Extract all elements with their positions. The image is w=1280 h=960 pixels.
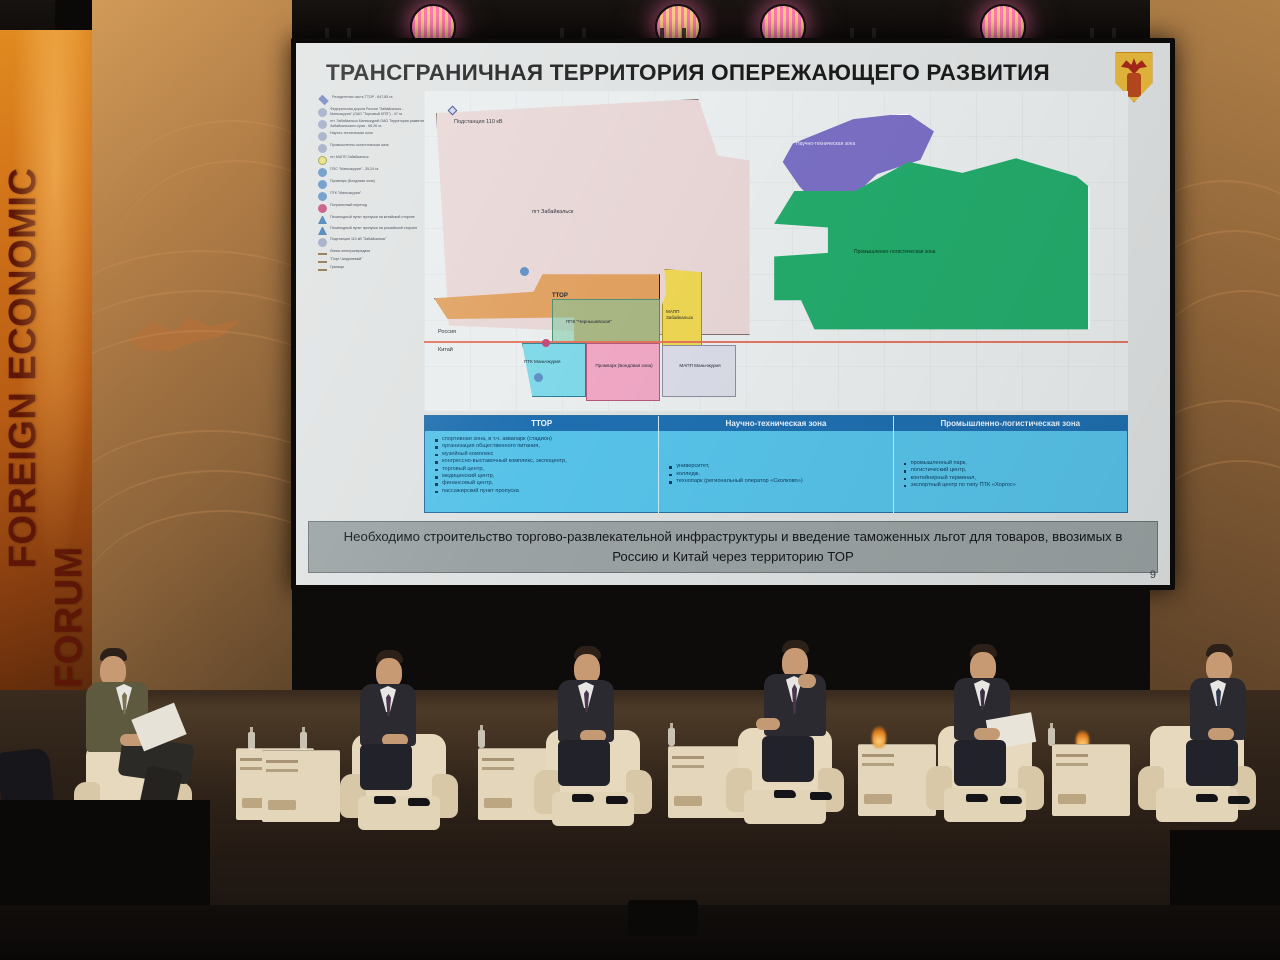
name-placard xyxy=(858,744,936,816)
hand-raised xyxy=(798,674,816,688)
legend-dot-icon xyxy=(318,144,327,153)
zones-table: ТТОР Научно-техническая зона Промышленно… xyxy=(424,415,1128,513)
hands xyxy=(974,728,1000,740)
hand-gesturing xyxy=(756,718,780,730)
legend-item: Федеральная дорога Россия "Забайкальск -… xyxy=(318,107,426,117)
map-label-settlement: пгт Забайкальск xyxy=(532,209,573,215)
legend-item: Граница xyxy=(318,265,426,271)
map-label-industrial: Промышленно-логистическая зона xyxy=(854,249,935,255)
map-label-prompark: Промпарк (Бондовая зона) xyxy=(590,363,658,369)
map-label-ppk: ППК "Чернышевская" xyxy=(566,319,612,324)
legend-item: Промпарк (Бондовая зона) xyxy=(318,179,426,189)
legend-item: Пешеходный пункт пропуска на китайской с… xyxy=(318,215,426,224)
table-cell-scitech: университет, колледж, технопарк (региона… xyxy=(659,431,893,513)
slide-page-number: 9 xyxy=(1150,569,1156,581)
list-item: экспортный центр по типу ПТК «Хоргос» xyxy=(904,482,1121,489)
shoe xyxy=(1196,794,1218,802)
table-cell-industrial: промышленный парк, логистический центр, … xyxy=(894,431,1127,513)
map-label-mapp-man: МАПП Маньчжурия xyxy=(668,363,732,369)
panelist-2 xyxy=(548,646,668,846)
water-bottle xyxy=(248,732,255,750)
legend-triangle-icon xyxy=(318,216,327,224)
table-header-row: ТТОР Научно-техническая зона Промышленно… xyxy=(425,416,1127,431)
map-label-russia: Россия xyxy=(438,329,456,335)
slide-title: ТРАНСГРАНИЧНАЯ ТЕРРИТОРИЯ ОПЕРЕЖАЮЩЕГО Р… xyxy=(326,60,1086,86)
legend-item: ПТК "Маньчжурия" xyxy=(318,191,426,201)
projection-screen: ТРАНСГРАНИЧНАЯ ТЕРРИТОРИЯ ОПЕРЕЖАЮЩЕГО Р… xyxy=(291,38,1175,590)
conclusion-banner: Необходимо строительство торгово-развлек… xyxy=(308,521,1158,573)
list-item: финансовый центр, xyxy=(435,480,652,487)
map-label-mapp-zab: МАПП Забайкальск xyxy=(666,309,702,321)
list-item: промышленный парк, xyxy=(904,460,1121,467)
table-header-industrial: Промышленно-логистическая зона xyxy=(894,416,1127,431)
legend-dot-icon xyxy=(318,108,327,117)
list-item: организация общественного питания, xyxy=(435,443,652,450)
map-zone-ptk xyxy=(522,343,586,397)
legend-item: Пограничный переход xyxy=(318,203,426,213)
table-header-ttor: ТТОР xyxy=(425,416,659,431)
stage-backdrop-left xyxy=(92,0,292,700)
legs xyxy=(762,736,814,782)
legend-line-icon xyxy=(318,253,327,255)
map-legend: Резидентная часть ТТОР - 647,85 га Федер… xyxy=(318,95,426,273)
water-bottle xyxy=(478,730,485,748)
legend-line-icon xyxy=(318,269,327,271)
candle-flame-icon xyxy=(872,726,886,748)
map-label-ptk: ПТК Маньчжурия xyxy=(524,359,582,365)
table-body-row: спортивная зона, в т.ч. аквапарк (стадио… xyxy=(425,431,1127,513)
panelist-4 xyxy=(944,644,1064,844)
map-zone-mapp-manchuria xyxy=(662,345,736,397)
table-header-scitech: Научно-техническая зона xyxy=(659,416,893,431)
legend-item: пгт МАПП Забайкальск xyxy=(318,155,426,165)
legend-blue-circle-icon xyxy=(318,192,327,201)
legend-item: ППС "Маньчжурия" - 35,24 га xyxy=(318,167,426,177)
shoe xyxy=(774,790,796,798)
forum-banner-text: FOREIGN ECONOMIC FORUM xyxy=(0,36,92,690)
name-placard xyxy=(262,750,340,822)
shoe xyxy=(1228,796,1250,804)
legs xyxy=(360,744,412,790)
legs xyxy=(954,740,1006,786)
legend-item: "Порт Чиндэлевый" xyxy=(318,257,426,263)
shoe xyxy=(408,798,430,806)
territory-map: Подстанция 110 кВ пгт Забайкальск Научно… xyxy=(424,91,1128,411)
shoe xyxy=(1000,796,1022,804)
legend-item: Научно-техническая зона xyxy=(318,131,426,141)
shoe xyxy=(572,794,594,802)
table-cell-ttor: спортивная зона, в т.ч. аквапарк (стадио… xyxy=(425,431,659,513)
list-item: торговый центр, xyxy=(435,466,652,473)
legend-dot-icon xyxy=(318,238,327,247)
conference-hall-photo: FOREIGN ECONOMIC FORUM ТРАНСГРАНИЧНАЯ ТЕ… xyxy=(0,0,1280,960)
list-item: пассажирский пункт пропуска xyxy=(435,488,652,495)
legend-dot-icon xyxy=(318,120,327,129)
legend-yellow-circle-icon xyxy=(318,156,327,165)
shoe xyxy=(966,794,988,802)
border-crossing-icon xyxy=(542,339,550,347)
legend-diamond-icon xyxy=(318,95,329,106)
legend-triangle-icon xyxy=(318,227,327,235)
list-item: технопарк (региональный оператор «Сколко… xyxy=(669,478,886,485)
legend-item: Пешеходный пункт пропуска на российской … xyxy=(318,226,426,235)
legs xyxy=(558,740,610,786)
shoe xyxy=(606,796,628,804)
legend-dot-icon xyxy=(318,132,327,141)
legend-item: пгт. Забайкальск Маньчжурий ОАО Территор… xyxy=(318,119,426,129)
presentation-slide: ТРАНСГРАНИЧНАЯ ТЕРРИТОРИЯ ОПЕРЕЖАЮЩЕГО Р… xyxy=(296,43,1170,585)
water-bottle xyxy=(300,732,307,750)
panelist-1 xyxy=(352,650,472,850)
legend-item: Резидентная часть ТТОР - 647,85 га xyxy=(318,95,426,105)
list-item: спортивная зона, в т.ч. аквапарк (стадио… xyxy=(435,436,652,443)
name-placard xyxy=(1052,744,1130,816)
shoe xyxy=(374,796,396,804)
legend-item: Промышленно-логистическая зона xyxy=(318,143,426,153)
legend-item: Подстанция 110 кВ "Забайкальск" xyxy=(318,237,426,247)
map-label-scitech: Научно-техническая зона xyxy=(796,141,855,147)
backdrop-line-art xyxy=(92,0,292,700)
list-item: логистический центр, xyxy=(904,467,1121,474)
pedestrian-crossing-icon xyxy=(534,373,543,382)
water-bottle xyxy=(668,728,675,746)
list-item: конгрессно-выставочный комплекс, экспоце… xyxy=(435,458,652,465)
crossing-point-icon xyxy=(520,267,529,276)
map-label-china: Китай xyxy=(438,347,453,353)
list-item: контейнерный терминал, xyxy=(904,475,1121,482)
shoe xyxy=(810,792,832,800)
map-label-substation: Подстанция 110 кВ xyxy=(454,119,503,125)
legs xyxy=(1186,740,1238,786)
stage-box xyxy=(628,900,698,936)
legend-red-circle-icon xyxy=(318,204,327,213)
list-item: университет, xyxy=(669,463,886,470)
legend-blue-circle-icon xyxy=(318,180,327,189)
panelist-5 xyxy=(1180,644,1280,844)
hands xyxy=(1208,728,1234,740)
legend-line-icon xyxy=(318,261,327,263)
map-zone-prompark xyxy=(586,343,660,401)
forum-banner-line1: FOREIGN ECONOMIC xyxy=(2,168,44,569)
legend-item: Линии электропередачи xyxy=(318,249,426,255)
state-border-line xyxy=(424,341,1128,343)
forum-banner-line2: FORUM xyxy=(46,36,92,690)
forum-banner: FOREIGN ECONOMIC FORUM xyxy=(0,30,92,690)
legend-blue-circle-icon xyxy=(318,168,327,177)
